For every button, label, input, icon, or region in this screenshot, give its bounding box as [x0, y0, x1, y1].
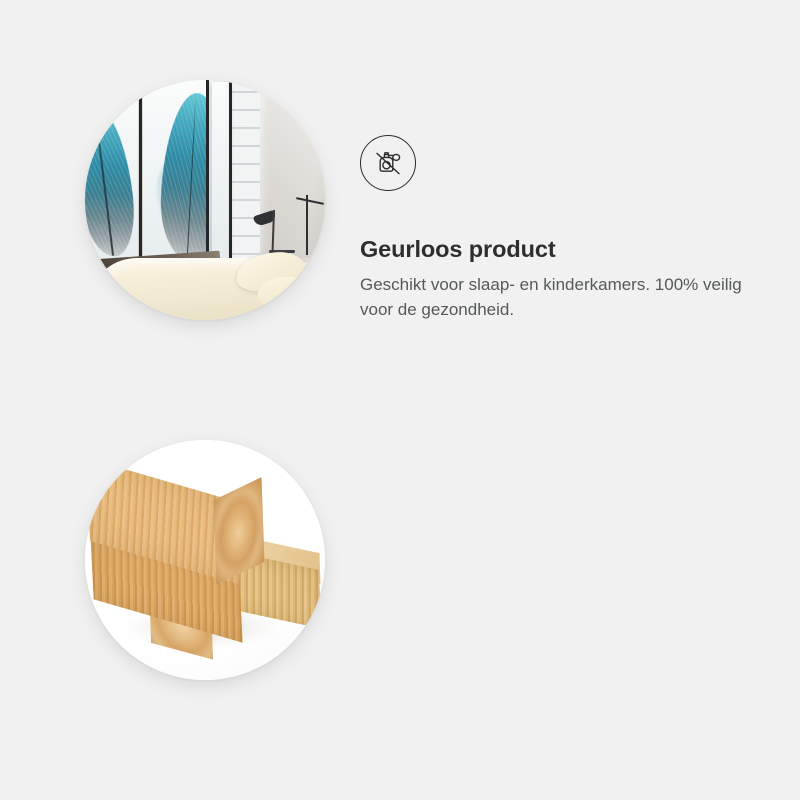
feature-description: Geschikt voor slaap- en kinderkamers. 10… [360, 272, 745, 322]
feature-block-solide-constructie: Solide constructie Vervaardigd uit de ho… [0, 395, 800, 755]
feature-image-wrapper [85, 440, 325, 680]
art-panel-center [143, 80, 208, 270]
art-panel-right [212, 82, 230, 267]
wood-scene [85, 440, 325, 680]
art-panel-left [85, 85, 138, 267]
panel-divider-c [229, 82, 232, 269]
no-fragrance-icon [360, 135, 416, 191]
feature-image-wrapper [85, 80, 325, 320]
panel-divider-a [139, 85, 142, 270]
window [229, 80, 260, 262]
bedroom-feather-wall-art-photo [85, 80, 325, 320]
feather-center [158, 92, 208, 263]
feature-title: Geurloos product [360, 236, 760, 263]
bedroom-scene [85, 80, 325, 320]
feature-text-column: Geurloos product Geschikt voor slaap- en… [360, 135, 760, 322]
product-features-page: Geurloos product Geschikt voor slaap- en… [0, 0, 800, 800]
wall-texture [258, 90, 325, 258]
feather-left [85, 104, 138, 259]
wooden-blocks-photo [85, 440, 325, 680]
feature-block-geurloos-product: Geurloos product Geschikt voor slaap- en… [0, 35, 800, 395]
headboard-rod [306, 195, 308, 255]
panel-divider-b [206, 80, 209, 272]
